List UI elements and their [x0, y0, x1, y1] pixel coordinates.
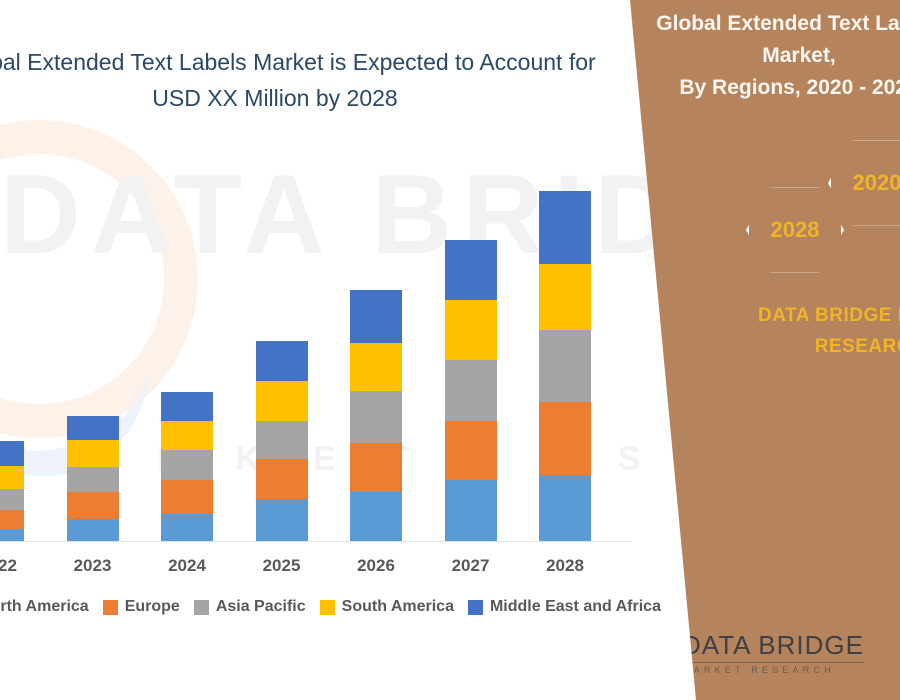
legend-label: North America	[0, 598, 89, 616]
panel-title-line-2: By Regions, 2020 - 2028	[634, 72, 900, 104]
bar-group-2026[interactable]	[350, 290, 402, 541]
bar-segment[interactable]	[161, 450, 213, 480]
bar-segment[interactable]	[350, 343, 402, 392]
bar-segment[interactable]	[256, 341, 308, 381]
x-axis-tick-2027: 2027	[431, 556, 511, 576]
bar-segment[interactable]	[445, 360, 497, 421]
bar-segment[interactable]	[0, 441, 24, 465]
chart-canvas: DATA BRIDGE M A R K E T R E S E A R C H …	[0, 0, 900, 700]
chart-legend: North AmericaEuropeAsia PacificSouth Ame…	[0, 598, 654, 616]
x-axis-tick-2022: 2022	[0, 556, 38, 576]
bar-segment[interactable]	[350, 443, 402, 492]
logo-name: DATA BRIDGE	[682, 632, 864, 658]
x-axis-tick-2026: 2026	[336, 556, 416, 576]
x-axis-tick-2028: 2028	[525, 556, 605, 576]
legend-item-south-america[interactable]: South America	[320, 598, 454, 616]
bar-segment[interactable]	[161, 514, 213, 541]
bar-segment[interactable]	[67, 519, 119, 541]
bar-group-2025[interactable]	[256, 341, 308, 541]
bar-segment[interactable]	[67, 416, 119, 440]
bar-segment[interactable]	[350, 492, 402, 541]
legend-label: South America	[342, 598, 454, 616]
bar-segment[interactable]	[67, 492, 119, 518]
hexagon-badge-2028: 2028	[746, 185, 844, 275]
legend-swatch-icon	[320, 600, 335, 615]
hexagon-label: 2020	[853, 170, 900, 196]
bar-segment[interactable]	[256, 499, 308, 541]
data-bridge-logo: DATA BRIDGE MARKET RESEARCH	[614, 624, 864, 682]
panel-brand-text: DATA BRIDGE MARKET RESEARCH	[720, 300, 900, 362]
bar-segment[interactable]	[0, 529, 24, 541]
legend-item-middle-east-and-africa[interactable]: Middle East and Africa	[468, 598, 661, 616]
bar-segment[interactable]	[256, 381, 308, 421]
bar-segment[interactable]	[256, 421, 308, 459]
bar-segment[interactable]	[161, 421, 213, 450]
bar-group-2022[interactable]	[0, 441, 24, 541]
x-axis-tick-2024: 2024	[147, 556, 227, 576]
bar-group-2023[interactable]	[67, 416, 119, 541]
bar-segment[interactable]	[539, 264, 591, 329]
legend-label: Asia Pacific	[216, 598, 306, 616]
logo-wordmark: DATA BRIDGE MARKET RESEARCH	[682, 632, 864, 675]
bar-group-2027[interactable]	[445, 240, 497, 541]
x-axis-tick-2023: 2023	[53, 556, 133, 576]
bar-segment[interactable]	[161, 392, 213, 420]
bar-segment[interactable]	[350, 290, 402, 343]
panel-brand-line-1: DATA BRIDGE MARKET	[720, 300, 900, 331]
legend-label: Middle East and Africa	[490, 598, 661, 616]
chart-title-line-2: USD XX Million by 2028	[0, 80, 670, 116]
data-bridge-b-mark-icon	[614, 624, 672, 682]
bar-group-2024[interactable]	[161, 392, 213, 541]
panel-title-line-1: Global Extended Text Labels Market,	[634, 8, 900, 72]
bar-group-2028[interactable]	[539, 191, 591, 541]
chart-title: Global Extended Text Labels Market is Ex…	[0, 44, 670, 116]
bar-segment[interactable]	[539, 402, 591, 474]
bar-segment[interactable]	[445, 240, 497, 300]
bar-segment[interactable]	[67, 467, 119, 492]
logo-tagline: MARKET RESEARCH	[682, 666, 864, 675]
legend-item-asia-pacific[interactable]: Asia Pacific	[194, 598, 306, 616]
legend-item-europe[interactable]: Europe	[103, 598, 180, 616]
panel-brand-line-2: RESEARCH	[720, 331, 900, 362]
legend-swatch-icon	[468, 600, 483, 615]
plot-area	[0, 150, 650, 542]
bar-segment[interactable]	[256, 459, 308, 499]
bar-segment[interactable]	[161, 480, 213, 513]
bar-segment[interactable]	[539, 330, 591, 402]
bar-segment[interactable]	[539, 191, 591, 264]
bar-segment[interactable]	[350, 391, 402, 443]
panel-title: Global Extended Text Labels Market, By R…	[634, 8, 900, 104]
legend-swatch-icon	[103, 600, 118, 615]
hexagon-label: 2028	[771, 217, 820, 243]
x-axis-line	[0, 541, 632, 542]
bar-segment[interactable]	[445, 300, 497, 361]
bar-segment[interactable]	[67, 440, 119, 466]
bar-segment[interactable]	[0, 489, 24, 510]
bar-segment[interactable]	[445, 480, 497, 541]
bar-segment[interactable]	[0, 466, 24, 489]
bar-segment[interactable]	[0, 510, 24, 530]
legend-label: Europe	[125, 598, 180, 616]
x-axis-tick-2025: 2025	[242, 556, 322, 576]
legend-swatch-icon	[194, 600, 209, 615]
x-axis-labels: 2022202320242025202620272028	[0, 556, 650, 582]
logo-divider	[682, 662, 864, 663]
hexagon-badge-2020: 2020	[828, 138, 900, 228]
chart-title-line-1: Global Extended Text Labels Market is Ex…	[0, 44, 670, 80]
bar-segment[interactable]	[445, 421, 497, 481]
bar-segment[interactable]	[539, 475, 591, 541]
legend-item-north-america[interactable]: North America	[0, 598, 89, 616]
